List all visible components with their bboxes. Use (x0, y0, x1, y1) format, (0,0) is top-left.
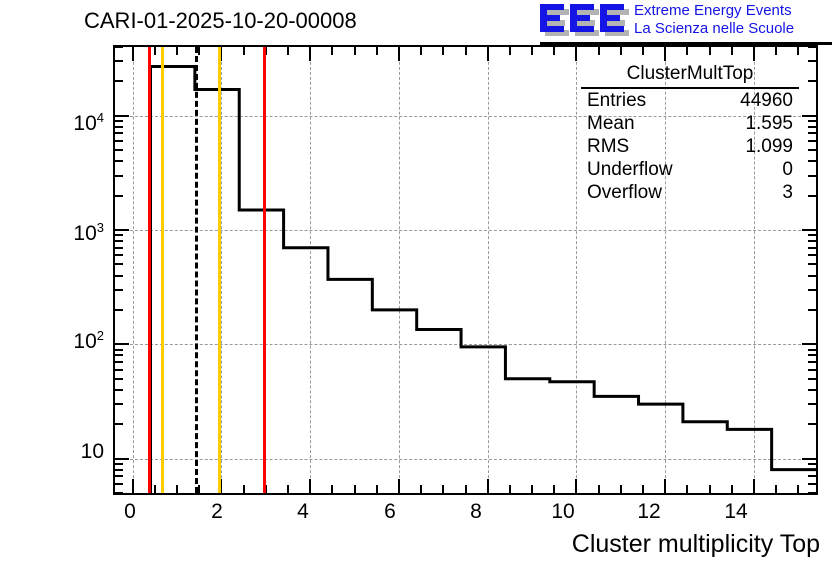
y-tick-label-100: 102 (46, 328, 104, 354)
y-tick-label-10000: 104 (46, 110, 104, 136)
stats-key: Entries (587, 90, 646, 112)
red-line-low (148, 47, 151, 493)
x-tick-label-6: 6 (384, 500, 396, 524)
stats-row-mean: Mean 1.595 (581, 112, 799, 135)
eee-logo: Extreme Energy Events La Scienza nelle S… (540, 2, 832, 40)
eee-logo-line1: Extreme Energy Events (634, 2, 794, 20)
stats-key: Mean (587, 113, 635, 135)
logo-e-icon-3 (600, 4, 626, 36)
page-title: CARI-01-2025-10-20-00008 (84, 8, 357, 34)
x-tick-label-10: 10 (551, 500, 574, 524)
x-tick-label-12: 12 (637, 500, 660, 524)
y-tick-label-10: 10 (46, 440, 104, 464)
stats-key: Underflow (587, 159, 673, 181)
logo-e-icon-2 (570, 4, 596, 36)
stats-value: 44960 (740, 90, 793, 112)
eee-logo-mark (540, 4, 628, 38)
stats-key: RMS (587, 136, 629, 158)
stats-row-rms: RMS 1.099 (581, 135, 799, 158)
x-tick-label-8: 8 (470, 500, 482, 524)
stats-value: 1.099 (745, 136, 793, 158)
stats-key: Overflow (587, 182, 662, 204)
orange-line-low (161, 47, 164, 493)
logo-e-icon-1 (540, 4, 566, 36)
stats-title: ClusterMultTop (581, 62, 799, 89)
stats-row-entries: Entries 44960 (581, 89, 799, 112)
stats-row-underflow: Underflow 0 (581, 158, 799, 181)
x-tick-label-4: 4 (297, 500, 309, 524)
x-axis-title: Cluster multiplicity Top (572, 530, 820, 559)
eee-logo-line2: La Scienza nelle Scuole (634, 20, 794, 38)
black-dashed-line (195, 47, 198, 493)
stats-value: 1.595 (745, 113, 793, 135)
y-tick-label-1000: 103 (46, 220, 104, 246)
x-tick-label-0: 0 (124, 500, 136, 524)
stats-value: 0 (782, 159, 793, 181)
x-tick-label-2: 2 (211, 500, 223, 524)
root-canvas: CARI-01-2025-10-20-00008 (0, 0, 836, 572)
stats-box: ClusterMultTop Entries 44960 Mean 1.595 … (581, 62, 799, 204)
stats-row-overflow: Overflow 3 (581, 181, 799, 204)
red-line-high (263, 47, 266, 493)
stats-value: 3 (782, 182, 793, 204)
eee-logo-text: Extreme Energy Events La Scienza nelle S… (634, 2, 794, 38)
x-tick-label-14: 14 (724, 500, 747, 524)
orange-line-high (218, 47, 221, 493)
